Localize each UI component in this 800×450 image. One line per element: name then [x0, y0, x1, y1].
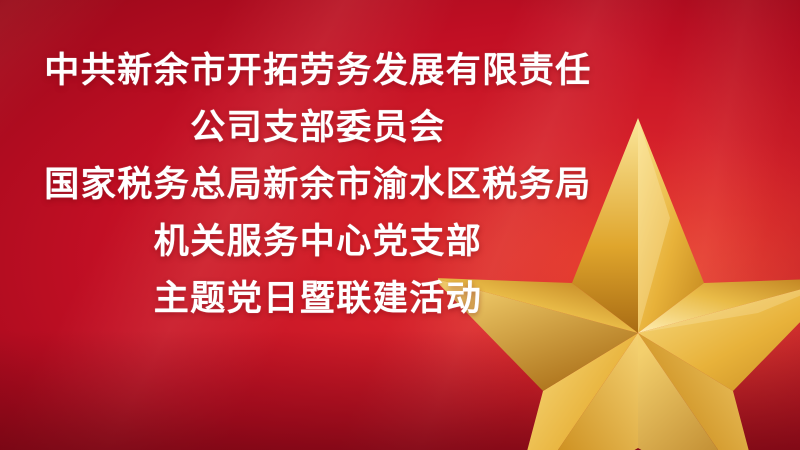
headline-line-1: 中共新余市开拓劳务发展有限责任: [0, 42, 636, 99]
headline-line-3: 国家税务总局新余市渝水区税务局: [0, 156, 636, 213]
poster-canvas: 中共新余市开拓劳务发展有限责任 公司支部委员会 国家税务总局新余市渝水区税务局 …: [0, 0, 800, 450]
headline-block: 中共新余市开拓劳务发展有限责任 公司支部委员会 国家税务总局新余市渝水区税务局 …: [0, 42, 636, 327]
headline-line-5: 主题党日暨联建活动: [0, 270, 636, 327]
headline-line-4: 机关服务中心党支部: [0, 213, 636, 270]
headline-line-2: 公司支部委员会: [0, 99, 636, 156]
